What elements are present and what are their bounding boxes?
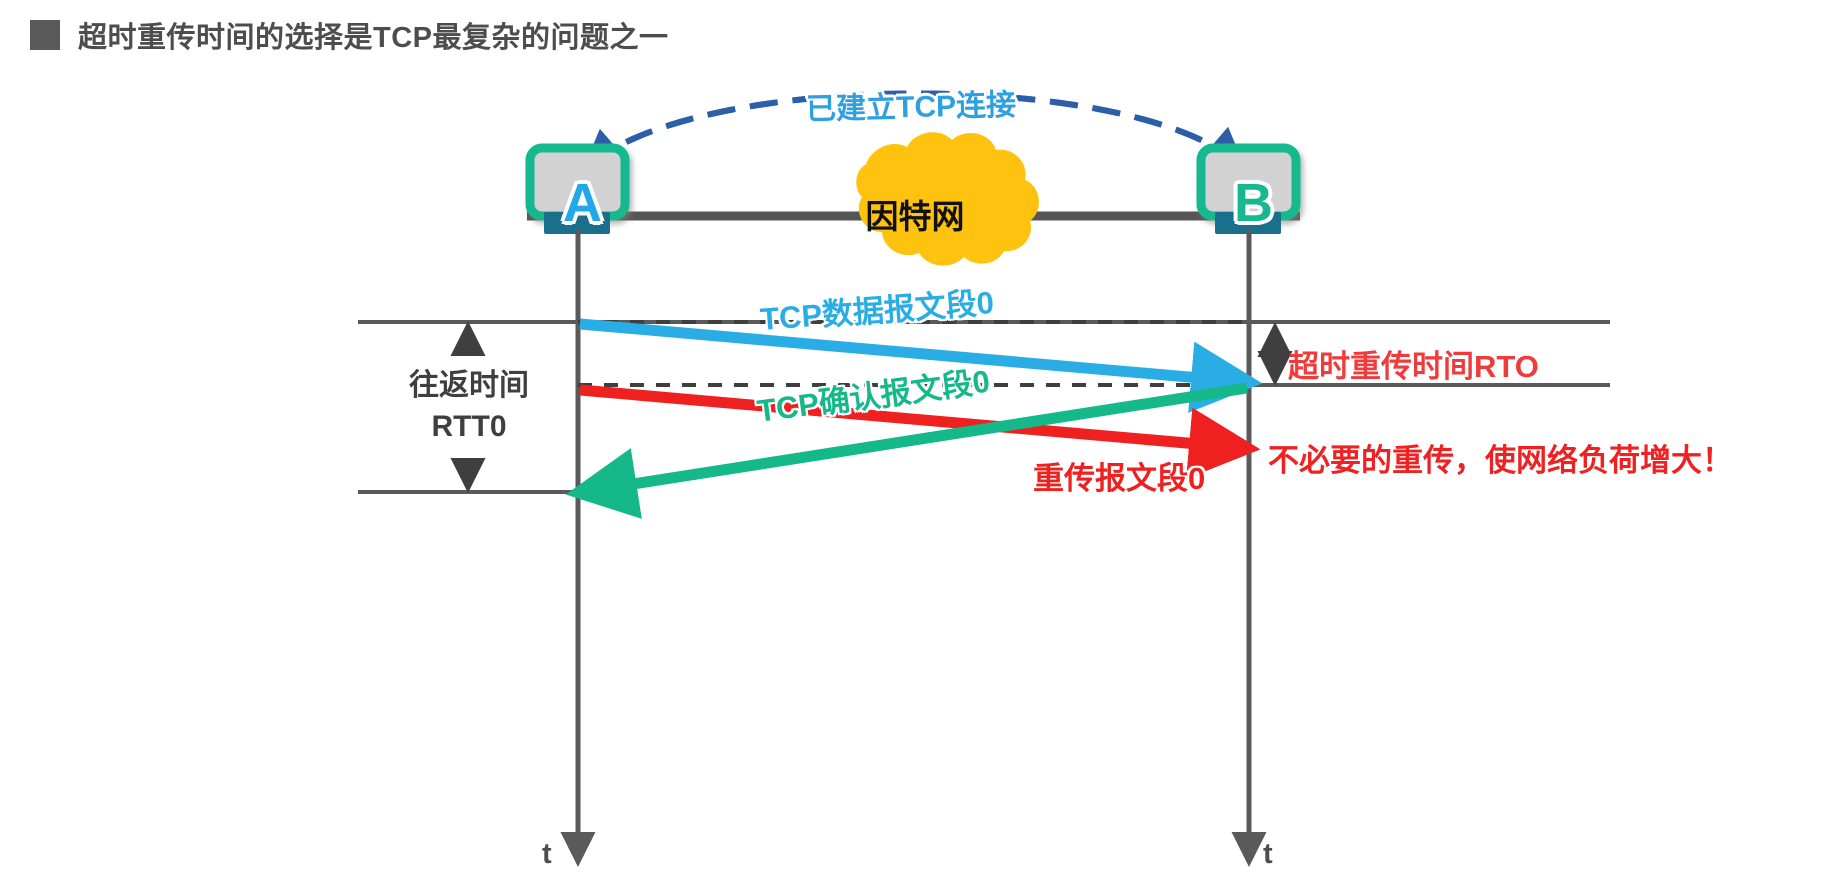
rto-label: 超时重传时间RTO bbox=[1288, 341, 1539, 386]
cloud-label: 因特网 bbox=[855, 190, 975, 238]
warning-label: 不必要的重传，使网络负荷增大！ bbox=[1268, 435, 1733, 480]
host-b-time-label: t bbox=[1263, 838, 1273, 871]
slide-canvas: 超时重传时间的选择是TCP最复杂的问题之一 bbox=[0, 0, 1837, 892]
connection-label: 已建立TCP连接 bbox=[806, 80, 1017, 128]
host-b-letter: B bbox=[1234, 176, 1273, 230]
rtt-label-line1: 往返时间 bbox=[409, 369, 529, 402]
rtt-label: 往返时间 RTT0 bbox=[404, 366, 534, 447]
host-a-letter: A bbox=[563, 176, 602, 230]
retransmit-segment-label: 重传报文段0 bbox=[1033, 453, 1205, 498]
rtt-label-line2: RTT0 bbox=[404, 407, 534, 448]
host-a-time-label: t bbox=[542, 838, 552, 871]
